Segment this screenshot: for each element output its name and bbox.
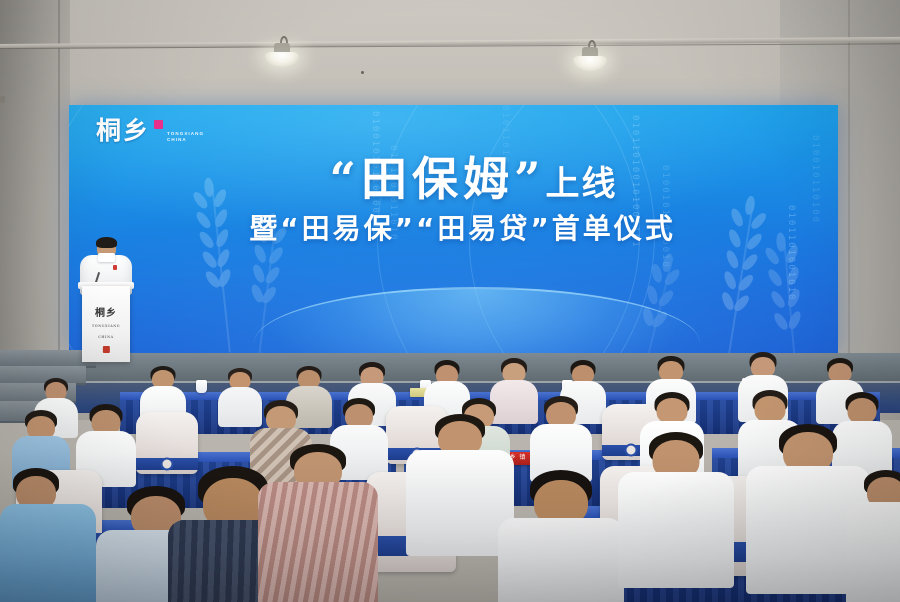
person-torso — [618, 472, 734, 588]
screen-title-suffix: 上线 — [545, 164, 617, 204]
lamp-shade — [265, 52, 299, 67]
audience-chair — [136, 412, 198, 474]
speaker-collar — [98, 253, 115, 262]
screen-title-quoted: “田保姆” — [330, 152, 546, 206]
podium-logo: 桐乡 TONGXIANG CHINA — [92, 308, 120, 353]
audience-person — [618, 432, 734, 582]
person-head — [755, 396, 786, 423]
audience-person — [498, 470, 624, 602]
podium-logo-en: TONGXIANG CHINA — [92, 321, 120, 343]
water-cup — [196, 380, 207, 393]
screen-title-main: “田保姆”上线 — [69, 143, 838, 209]
audience-person — [258, 444, 378, 602]
pendant-lamp-left-icon — [262, 36, 302, 74]
wall-fixture — [0, 96, 5, 103]
person-torso — [846, 502, 900, 602]
person-torso — [0, 504, 96, 602]
pendant-lamp-right-icon — [570, 40, 610, 78]
podium-logo-cn: 桐乡 — [95, 308, 117, 319]
podium: 桐乡 TONGXIANG CHINA — [82, 286, 130, 362]
audience-person — [846, 470, 900, 602]
screen-title-sub: 暨“田易保”“田易贷”首单仪式 — [69, 207, 838, 247]
audience-person — [530, 396, 592, 480]
audience-person — [0, 468, 96, 602]
lamp-shade — [573, 56, 607, 71]
person-torso — [498, 518, 624, 602]
speaker-badge — [113, 265, 117, 270]
person-torso — [258, 482, 378, 602]
logo-chinese-text: 桐乡 — [96, 118, 150, 143]
ceiling-marker — [361, 71, 364, 74]
tongxiang-logo: 桐乡 TONGXIANG CHINA — [96, 118, 204, 143]
wall-seam-right — [848, 0, 850, 360]
logo-english-text: TONGXIANG CHINA — [167, 131, 204, 143]
logo-mark-icon — [154, 120, 163, 129]
podium-seal-icon — [102, 346, 109, 353]
speaker-hair — [96, 237, 117, 248]
led-backdrop-screen: 01001010110100101 0101001011010 01011010… — [69, 105, 838, 353]
event-photo-scene: 01001010110100101 0101001011010 01011010… — [0, 0, 900, 602]
